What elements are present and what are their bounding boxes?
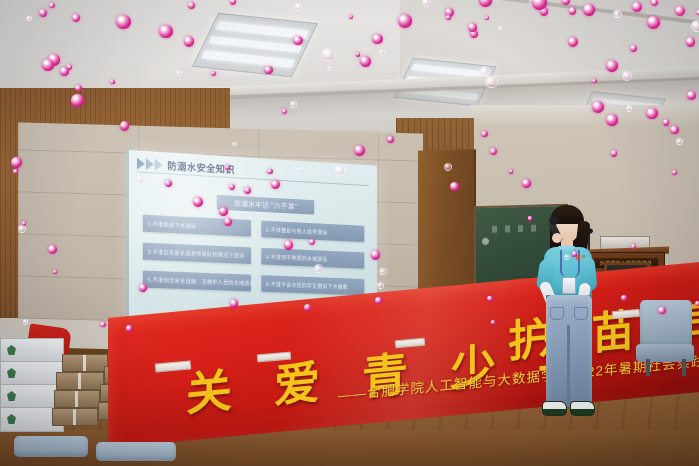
slide-bullet-row: 5.不准到无安全设施、无救护人员的水域游泳 6.不准不会水性的学生擅自下水施救 xyxy=(143,271,365,296)
slide-bullet-row: 1.不准私自下水游泳 2.不准擅自与他人结伴游泳 xyxy=(143,215,365,242)
jeans-pocket xyxy=(574,307,588,320)
slide-bullet-item: 2.不准擅自与他人结伴游泳 xyxy=(261,221,364,242)
microphone-head xyxy=(549,216,559,225)
wall-right-upper xyxy=(470,105,699,127)
jeans-pocket xyxy=(550,307,564,320)
id-badge xyxy=(562,277,576,294)
blue-plastic-chair xyxy=(640,300,692,376)
bullet-text: 3.不准在无家长或老师带队的情况下游泳 xyxy=(148,247,244,259)
ceiling-light-icon xyxy=(192,13,318,78)
shoe-left xyxy=(542,401,567,416)
bullet-text: 6.不准不会水性的学生擅自下水施救 xyxy=(266,280,348,291)
bullet-text: 4.不准到不熟悉的水域游泳 xyxy=(266,252,327,262)
photo-scene: 防溺水安全知识 防溺水牢记 "六不准" 1.不准私自下水游泳 2.不准擅自与他人… xyxy=(0,0,699,466)
bubble-icon xyxy=(100,322,105,327)
slide-bullet-item: 4.不准到不熟悉的水域游泳 xyxy=(261,248,364,269)
wooden-door xyxy=(418,149,476,290)
slide-bullet-item: 1.不准私自下水游泳 xyxy=(143,215,251,237)
chevron-right-icon xyxy=(137,157,163,171)
slide-section-title-text: 防溺水牢记 "六不准" xyxy=(234,198,297,211)
lanyard xyxy=(560,250,580,278)
bullet-text: 2.不准擅自与他人结伴游泳 xyxy=(266,225,327,236)
slide-bullet-list: 1.不准私自下水游泳 2.不准擅自与他人结伴游泳 3.不准在无家长或老师带队的情… xyxy=(143,215,365,306)
slide-bullet-item: 3.不准在无家长或老师带队的情况下游泳 xyxy=(143,243,251,264)
bullet-text: 1.不准私自下水游泳 xyxy=(148,219,196,229)
presenter xyxy=(530,203,608,418)
bubble-icon xyxy=(23,319,28,324)
slide-bullet-item: 6.不准不会水性的学生擅自下水施救 xyxy=(261,275,364,295)
shoe-right xyxy=(570,401,595,416)
chalk-dot xyxy=(482,238,489,245)
bullet-text: 5.不准到无安全设施、无救护人员的水域游泳 xyxy=(148,275,255,287)
slide-section-title: 防溺水牢记 "六不准" xyxy=(217,195,315,215)
blue-plastic-chair xyxy=(96,442,176,466)
blue-plastic-chair xyxy=(14,436,88,466)
slide-bullet-item: 5.不准到无安全设施、无救护人员的水域游泳 xyxy=(143,271,251,292)
slide-bullet-row: 3.不准在无家长或老师带队的情况下游泳 4.不准到不熟悉的水域游泳 xyxy=(143,243,365,269)
hand-left xyxy=(552,233,562,243)
